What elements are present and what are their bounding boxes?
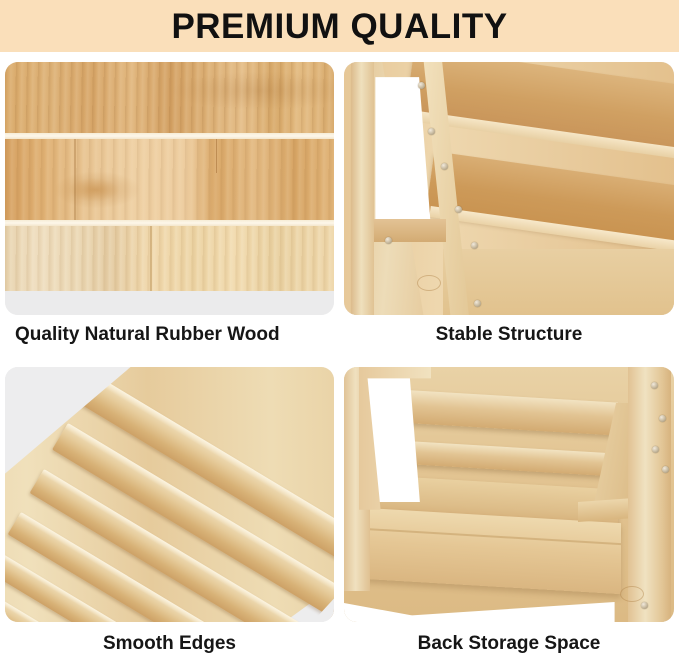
smooth-edges-illustration <box>5 367 334 622</box>
feature-image-stable-structure <box>344 62 674 315</box>
plank-seam <box>74 139 76 221</box>
screw-icon <box>471 242 478 249</box>
feature-card-smooth-edges: Smooth Edges <box>5 367 334 655</box>
plank-seam <box>150 226 152 291</box>
feature-caption-back-storage-space: Back Storage Space <box>344 633 674 655</box>
feature-image-quality-natural-rubber-wood <box>5 62 334 315</box>
wood-plank-bottom <box>5 226 334 291</box>
wood-grain-texture <box>5 139 334 221</box>
wood-planks-illustration <box>5 62 334 315</box>
screw-icon <box>641 602 648 609</box>
plank-seam <box>216 139 218 173</box>
screw-icon <box>651 382 658 389</box>
feature-image-back-storage-space <box>344 367 674 622</box>
feature-grid: Quality Natural Rubber Wood <box>0 52 679 655</box>
feature-image-smooth-edges <box>5 367 334 622</box>
wood-plank-middle <box>5 139 334 221</box>
wood-knot <box>417 275 441 291</box>
screw-icon <box>428 128 435 135</box>
feature-caption-quality-natural-rubber-wood: Quality Natural Rubber Wood <box>5 324 334 346</box>
page-title: PREMIUM QUALITY <box>171 9 507 44</box>
infographic-sheet: PREMIUM QUALITY <box>0 0 679 655</box>
feature-card-quality-natural-rubber-wood: Quality Natural Rubber Wood <box>5 62 334 367</box>
back-storage-illustration <box>344 367 674 622</box>
left-leg-post <box>351 62 374 315</box>
stable-structure-illustration <box>344 62 674 315</box>
screw-icon <box>455 206 462 213</box>
feature-caption-smooth-edges: Smooth Edges <box>5 633 334 655</box>
wood-grain-texture <box>5 62 334 134</box>
header-band: PREMIUM QUALITY <box>0 0 679 52</box>
feature-card-stable-structure: Stable Structure <box>344 62 674 367</box>
wood-grain-texture <box>5 226 334 291</box>
right-step <box>578 498 634 522</box>
wood-plank-top <box>5 62 334 134</box>
right-post <box>628 367 671 622</box>
screw-icon <box>385 237 392 244</box>
feature-caption-stable-structure: Stable Structure <box>344 324 674 346</box>
feature-card-back-storage-space: Back Storage Space <box>344 367 674 655</box>
